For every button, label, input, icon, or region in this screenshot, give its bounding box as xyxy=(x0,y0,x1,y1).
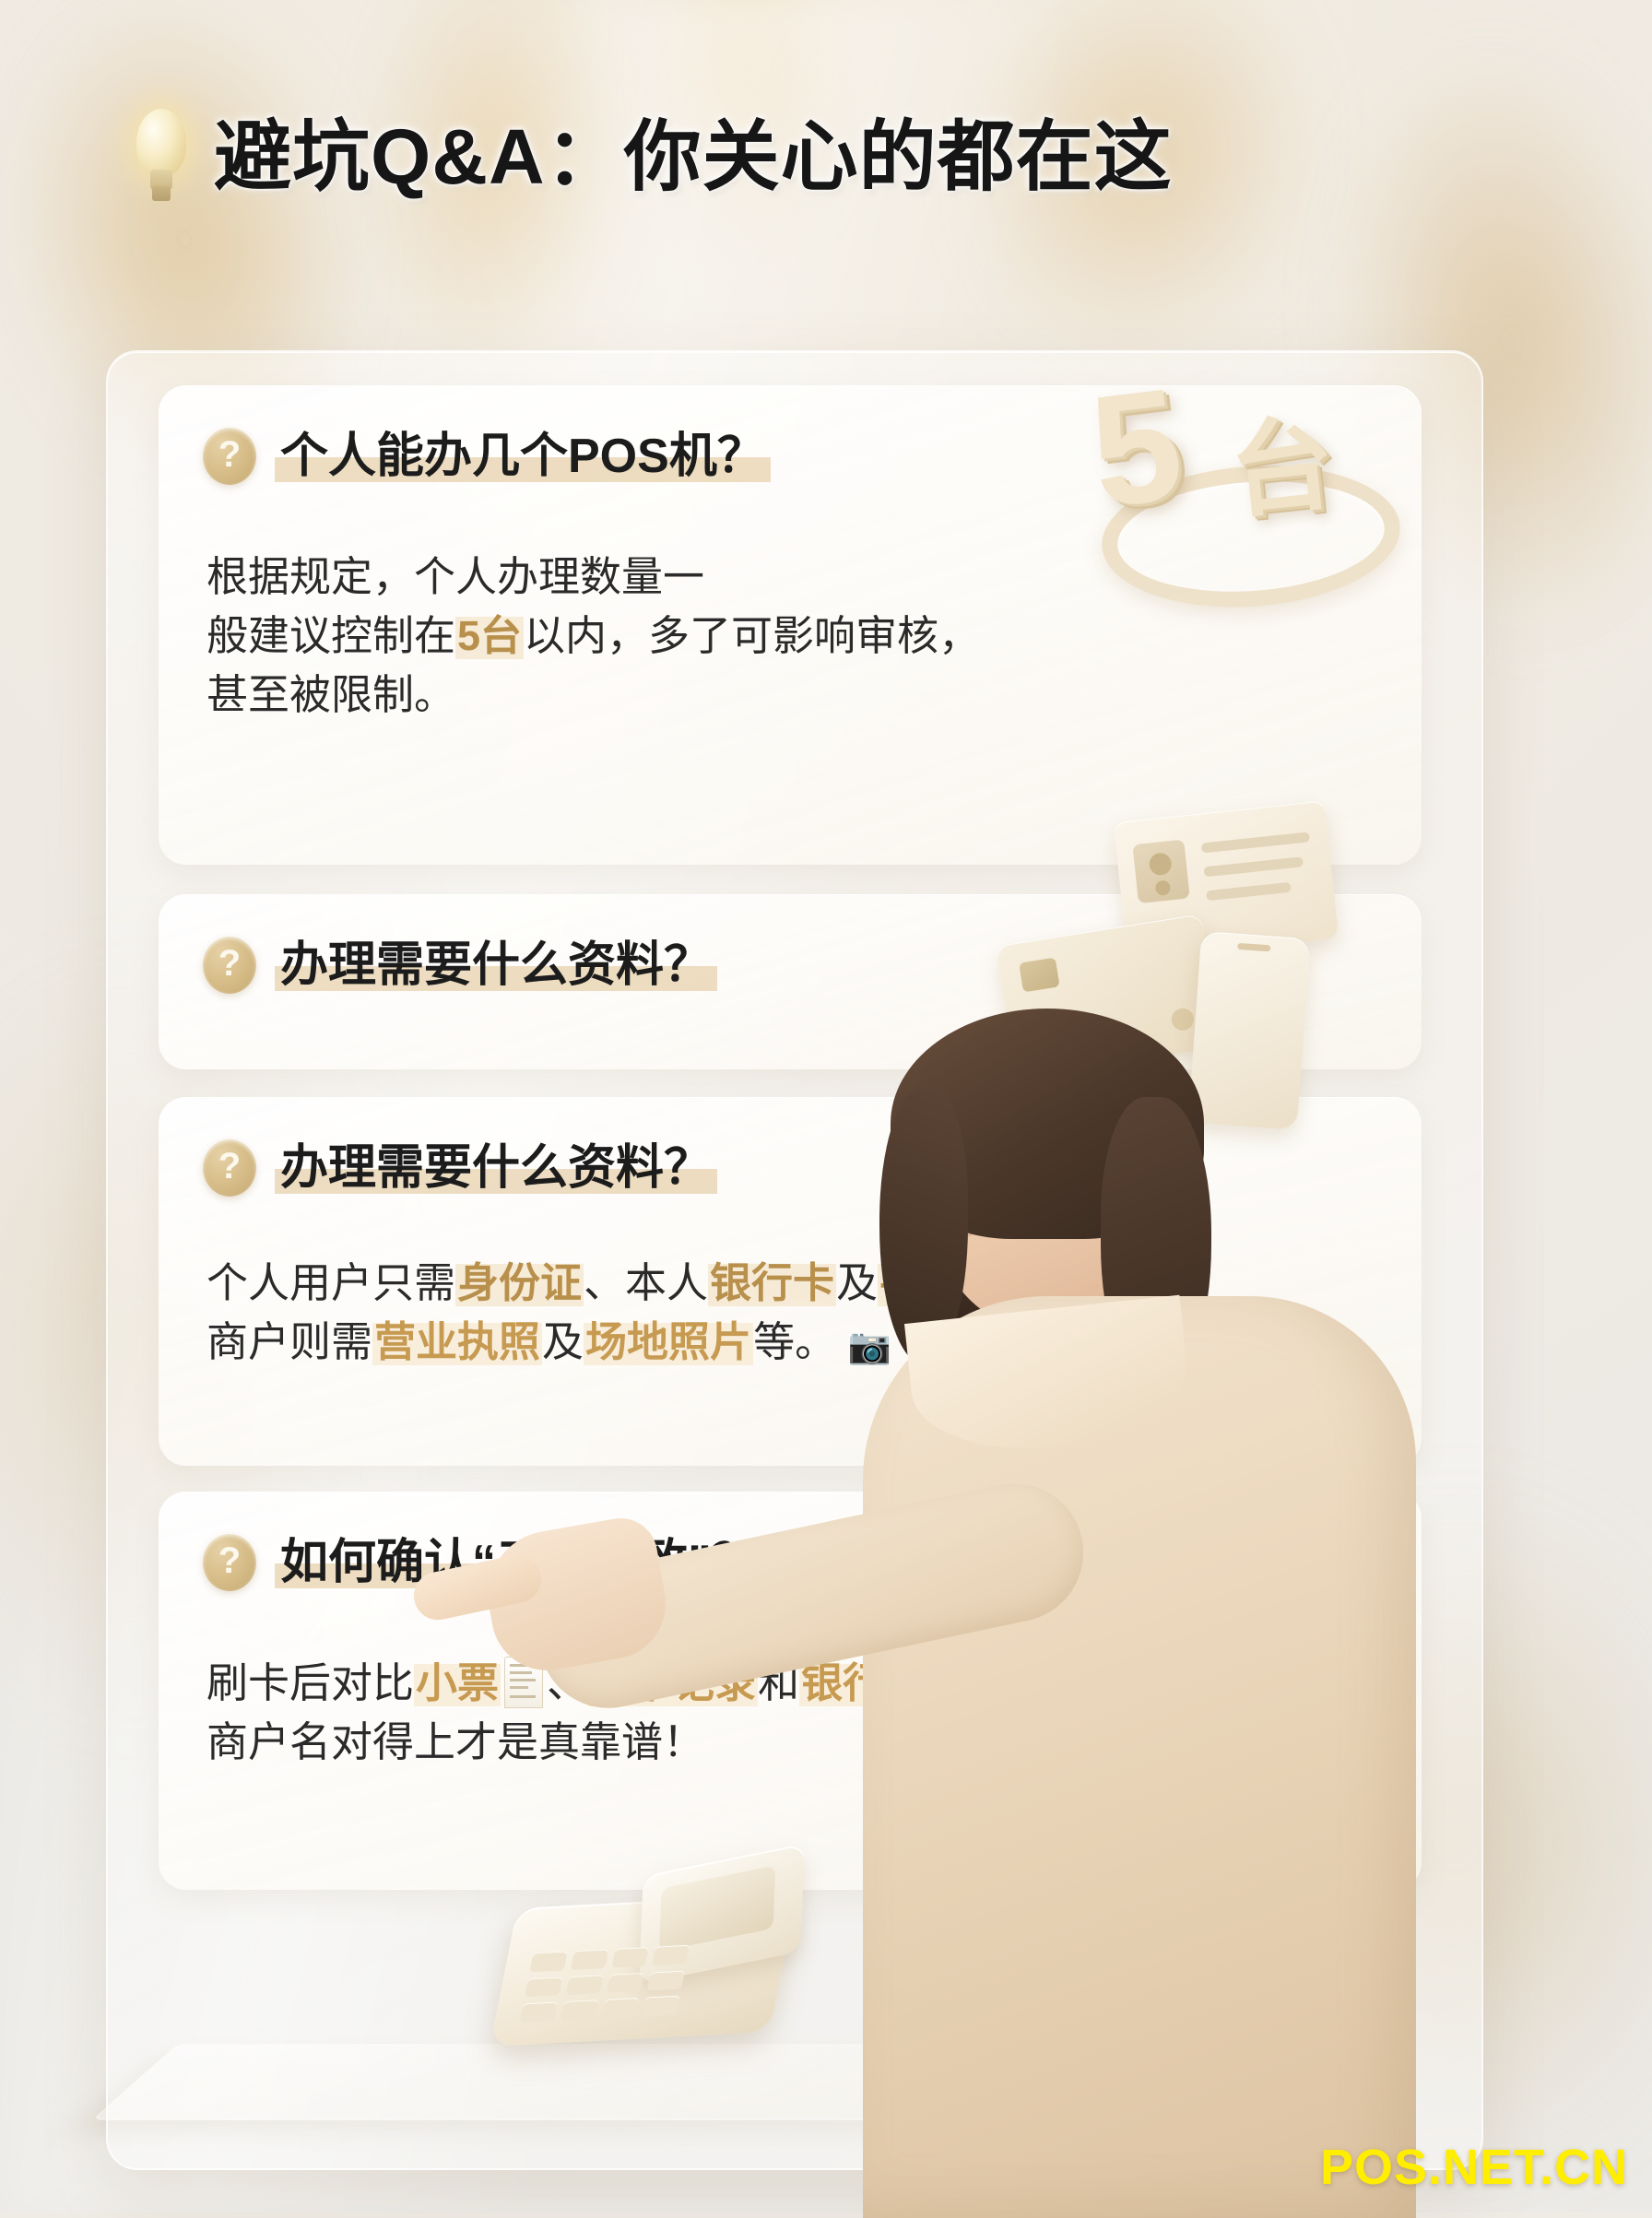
question-text: 办理需要什么资料？ xyxy=(275,939,717,991)
number-five-3d: 5 xyxy=(1083,364,1190,532)
answer-span: 以内，多了可影响审核， xyxy=(524,612,980,659)
lightbulb-base xyxy=(152,186,171,201)
lightbulb-glass xyxy=(136,109,186,177)
id-line xyxy=(1206,882,1292,902)
question-row: ? 办理需要什么资料？ xyxy=(203,937,717,994)
answer-highlight: 营业执照 xyxy=(372,1318,542,1365)
page-header: 避坑Q&A：你关心的都在这 xyxy=(129,109,1173,205)
answer-highlight: 场地照片 xyxy=(584,1318,753,1365)
question-row: ? 个人能办几个POS机？ xyxy=(203,428,771,485)
five-units-3d-ornament: 5 台 xyxy=(1092,369,1397,581)
answer-span: 根据规定，个人办理数量一 xyxy=(206,553,704,600)
answer-highlight: 5台 xyxy=(455,612,524,659)
answer-span: 刷卡后对比 xyxy=(206,1659,414,1706)
question-badge-icon: ? xyxy=(203,1534,256,1591)
answer-span: 等。 xyxy=(753,1318,836,1365)
question-badge-icon: ? xyxy=(203,937,256,994)
torso xyxy=(863,1296,1416,2218)
answer-span: 甚至被限制。 xyxy=(206,671,455,718)
lightbulb-icon xyxy=(129,109,194,205)
pos-terminal-3d-icon xyxy=(505,1853,837,2074)
answer-text: 根据规定，个人办理数量一 般建议控制在5台以内，多了可影响审核， 甚至被限制。 xyxy=(206,548,980,725)
answer-line: 甚至被限制。 xyxy=(206,666,980,725)
answer-span: 商户名对得上才是真靠谱！ xyxy=(206,1718,704,1765)
question-text: 个人能办几个POS机？ xyxy=(275,431,771,482)
woman-3d-figure xyxy=(885,977,1652,2212)
watermark: POS.NET.CN xyxy=(1320,2139,1628,2196)
id-line xyxy=(1201,832,1311,853)
answer-line: 般建议控制在5台以内，多了可影响审核， xyxy=(206,607,980,666)
answer-highlight: 小票 xyxy=(414,1659,501,1706)
answer-span: 商户则需 xyxy=(206,1318,372,1365)
answer-span: 、本人 xyxy=(584,1259,708,1306)
question-row: ? 办理需要什么资料？ xyxy=(203,1139,717,1197)
id-photo-icon xyxy=(1132,840,1189,904)
answer-highlight: 银行卡 xyxy=(708,1259,836,1306)
answer-span: 及 xyxy=(836,1259,878,1306)
page-title: 避坑Q&A：你关心的都在这 xyxy=(214,118,1173,195)
unit-character-3d: 台 xyxy=(1225,411,1339,525)
id-line xyxy=(1203,856,1304,877)
question-badge-icon: ? xyxy=(203,428,256,485)
answer-span: 般建议控制在 xyxy=(206,612,455,659)
answer-highlight: 身份证 xyxy=(455,1259,584,1306)
answer-line: 根据规定，个人办理数量一 xyxy=(206,548,980,607)
question-text: 办理需要什么资料？ xyxy=(275,1142,717,1194)
question-badge-icon: ? xyxy=(203,1139,256,1197)
answer-span: 及 xyxy=(542,1318,584,1365)
answer-span: 个人用户只需 xyxy=(206,1259,455,1306)
pos-keypad xyxy=(520,1945,690,2023)
